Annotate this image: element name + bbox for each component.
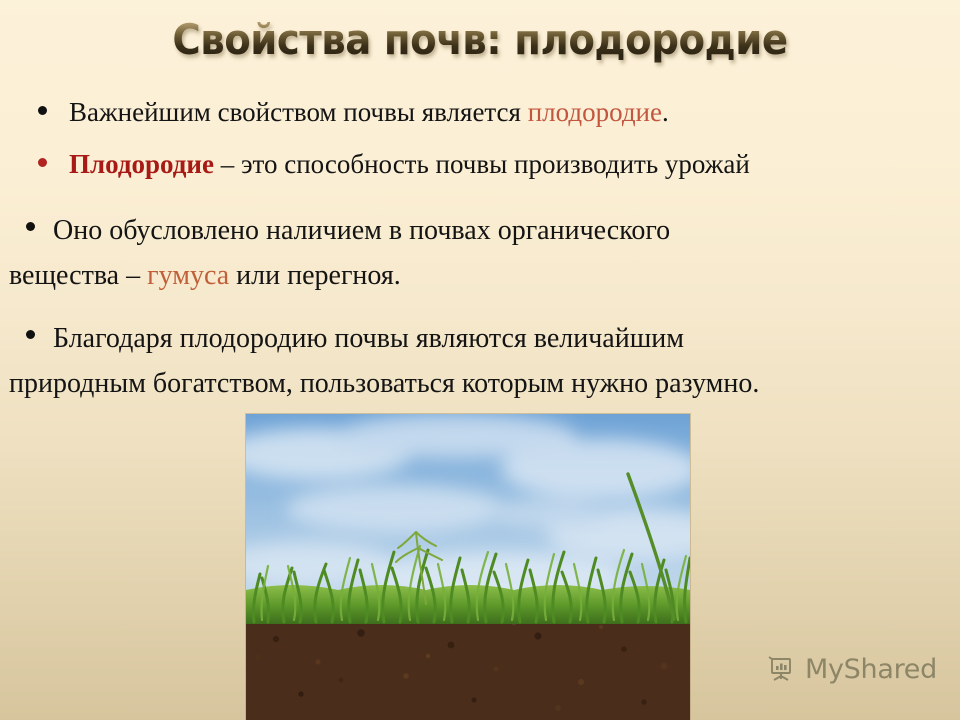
bullet-3-line-2-pre: вещества – [9,260,147,291]
bullet-2-highlight-plodorodie: Плодородие [69,149,214,179]
bullet-1-segment-2: . [662,97,669,127]
bullet-text-1: Важнейшим свойством почвы является плодо… [69,92,960,132]
bullet-marker-icon [38,158,47,167]
flipchart-bar-chart-icon [766,652,796,687]
bullet-2-segment-1: – это способность почвы производить урож… [214,149,750,179]
bullet-marker-icon [26,330,35,339]
bullet-1-highlight-plodorodie: плодородие [528,97,662,127]
bullet-text-4: Благодаря плодородию почвы являются вели… [53,316,960,406]
bullet-3-line-1: Оно обусловлено наличием в почвах органи… [53,215,670,246]
soil-photo-graphic [246,414,690,720]
bullet-item-1: Важнейшим свойством почвы является плодо… [38,92,960,132]
bullet-1-segment-0: Важнейшим свойством почвы является [69,97,528,127]
bullet-item-3: Оно обусловлено наличием в почвах органи… [26,208,960,298]
bullet-text-3: Оно обусловлено наличием в почвах органи… [53,208,960,298]
bullet-3-line-2-post: или перегноя. [229,260,401,291]
watermark-label: MyShared [805,654,937,685]
bullet-list: Важнейшим свойством почвы является плодо… [0,92,960,406]
watermark: MyShared [766,652,937,687]
bullet-marker-icon [26,222,35,231]
bullet-text-2: Плодородие – это способность почвы произ… [69,144,960,184]
bullet-3-highlight-gumusa: гумуса [147,260,229,291]
bullet-4-line-1: Благодаря плодородию почвы являются вели… [53,323,684,354]
photo-clouds [246,414,690,605]
page-title: Свойства почв: плодородие [38,14,921,66]
bullet-marker-icon [38,106,47,115]
bullet-item-2: Плодородие – это способность почвы произ… [38,144,960,184]
photo-soil-edge [246,609,690,720]
bullet-4-line-2: природным богатством, пользоваться котор… [9,361,960,406]
bullet-item-4: Благодаря плодородию почвы являются вели… [26,316,960,406]
soil-photo [246,414,690,720]
